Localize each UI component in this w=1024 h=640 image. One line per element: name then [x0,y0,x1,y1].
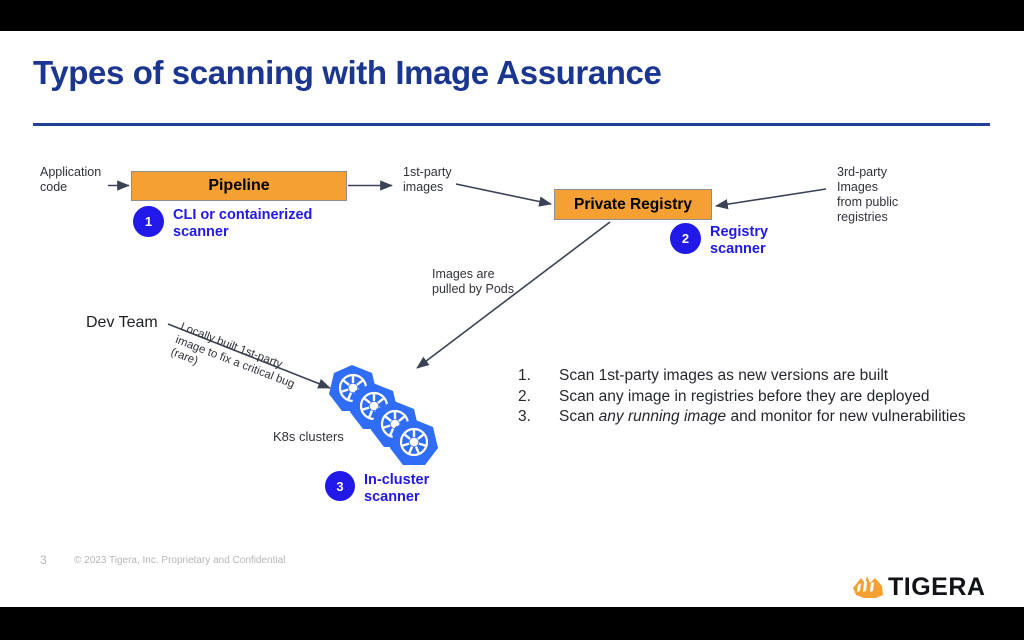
page-number: 3 [40,553,47,567]
badge-number: 2 [670,223,701,254]
k8s-hexagons [329,365,438,465]
list-item-number: 3. [518,407,559,428]
label-images-pulled-by-pods: Images are pulled by Pods [432,267,514,297]
tiger-head-icon [852,574,884,602]
badge-label: Registry scanner [710,223,768,258]
badge-label: CLI or containerized scanner [173,206,312,241]
list-item-text: Scan 1st-party images as new versions ar… [559,366,988,387]
tigera-wordmark: TIGERA [888,573,985,602]
list-item-text-italic: any running image [599,408,727,425]
list-item-text: Scan any running image and monitor for n… [559,407,988,428]
list-item-number: 1. [518,366,559,387]
k8s-clusters-icon-stack [325,363,440,473]
copyright-notice: © 2023 Tigera, Inc. Proprietary and Conf… [74,555,285,566]
list-item: 1. Scan 1st-party images as new versions… [518,366,988,387]
badge-label: In-cluster scanner [364,471,429,506]
tigera-logo: TIGERA [852,571,994,601]
badge-registry-scanner[interactable]: 2 Registry scanner [670,223,768,258]
slide-canvas: Types of scanning with Image Assurance [0,31,1024,607]
label-third-party-images: 3rd-party Images from public registries [837,165,898,225]
arrow-thirdparty-to-registry [716,189,826,206]
private-registry-box[interactable]: Private Registry [554,189,712,220]
list-item-text-after: and monitor for new vulnerabilities [726,408,966,425]
badge-number: 3 [325,471,355,501]
slide-root: Types of scanning with Image Assurance [0,0,1024,640]
label-dev-team-note: Locally built 1st-party image to fix a c… [168,321,323,413]
arrow-images-to-registry [456,184,551,204]
letterbox-bottom [0,607,1024,640]
list-item-number: 2. [518,387,559,408]
letterbox-top [0,0,1024,31]
list-item: 2. Scan any image in registries before t… [518,387,988,408]
title-divider [33,123,990,126]
badge-number: 1 [133,206,164,237]
badge-cli-scanner[interactable]: 1 CLI or containerized scanner [133,206,312,241]
list-item: 3. Scan any running image and monitor fo… [518,407,988,428]
label-dev-team: Dev Team [86,313,158,332]
page-title: Types of scanning with Image Assurance [33,54,661,92]
label-first-party-images: 1st-party images [403,165,452,195]
label-application-code: Application code [40,165,101,195]
list-item-text: Scan any image in registries before they… [559,387,988,408]
pipeline-box[interactable]: Pipeline [131,171,347,201]
scan-list: 1. Scan 1st-party images as new versions… [518,366,988,428]
list-item-text-before: Scan [559,408,599,425]
badge-in-cluster-scanner[interactable]: 3 In-cluster scanner [325,471,429,506]
